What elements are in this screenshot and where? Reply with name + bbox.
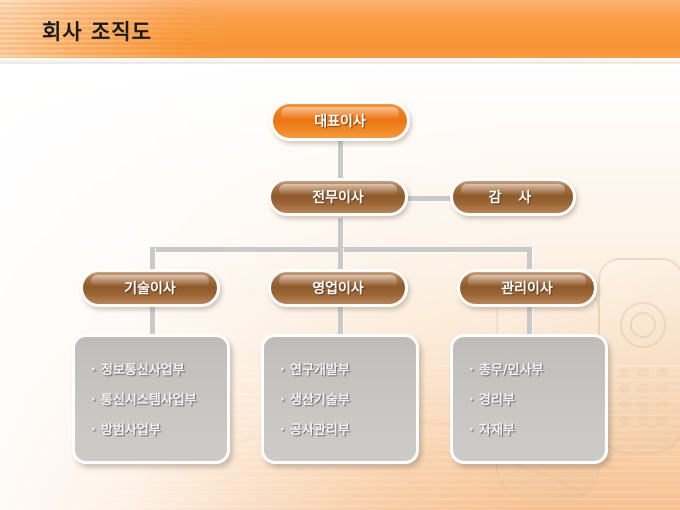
- connector-sales-to-departments: [338, 306, 343, 336]
- org-node-exec-director-label: 전무이사: [312, 187, 364, 207]
- connector-tech-to-departments: [150, 306, 155, 336]
- slide: 회사 조직도 대표이사 전무이사 감 사 기술이사 영업이사 관리이사 · 정보…: [0, 0, 680, 510]
- list-item: · 방범사업부: [91, 419, 227, 438]
- bullet-icon: ·: [280, 394, 290, 407]
- connector-exec-to-bus: [338, 218, 343, 250]
- connector-ceo-to-exec: [338, 140, 343, 180]
- bullet-icon: ·: [469, 394, 479, 407]
- bullet-icon: ·: [91, 394, 101, 407]
- connector-admin-to-departments: [527, 306, 532, 336]
- org-node-exec-director[interactable]: 전무이사: [268, 178, 408, 216]
- department-box-tech: · 정보통신사업부 · 통신시스템사업부 · 방범사업부: [72, 334, 230, 464]
- list-item: · 자재부: [469, 419, 605, 438]
- org-node-sales-director-label: 영업이사: [312, 278, 364, 298]
- list-item: · 생산기술부: [280, 389, 416, 408]
- department-box-admin: · 총무/인사부 · 경리부 · 자재부: [450, 334, 608, 464]
- connector-exec-to-auditor: [406, 196, 452, 201]
- department-label: 정보통신사업부: [101, 359, 185, 378]
- org-node-admin-director-label: 관리이사: [501, 278, 553, 298]
- bullet-icon: ·: [280, 424, 290, 437]
- org-node-admin-director[interactable]: 관리이사: [457, 269, 597, 307]
- bullet-icon: ·: [469, 364, 479, 377]
- bullet-icon: ·: [91, 364, 101, 377]
- bullet-icon: ·: [469, 424, 479, 437]
- list-item: · 연구개발부: [280, 359, 416, 378]
- title-bar: 회사 조직도: [0, 0, 680, 58]
- department-label: 통신시스템사업부: [101, 389, 197, 408]
- department-label: 자재부: [479, 419, 515, 438]
- list-item: · 총무/인사부: [469, 359, 605, 378]
- page-title: 회사 조직도: [42, 16, 152, 46]
- department-label: 생산기술부: [290, 389, 350, 408]
- org-node-auditor-label: 감 사: [489, 187, 538, 207]
- org-node-auditor[interactable]: 감 사: [450, 178, 576, 216]
- department-label: 연구개발부: [290, 359, 350, 378]
- bullet-icon: ·: [91, 424, 101, 437]
- list-item: · 통신시스템사업부: [91, 389, 227, 408]
- title-bar-separator-line: [0, 62, 680, 64]
- list-item: · 정보통신사업부: [91, 359, 227, 378]
- department-label: 총무/인사부: [479, 359, 544, 378]
- org-node-sales-director[interactable]: 영업이사: [268, 269, 408, 307]
- department-label: 공사관리부: [290, 419, 350, 438]
- org-node-tech-director[interactable]: 기술이사: [80, 269, 220, 307]
- list-item: · 공사관리부: [280, 419, 416, 438]
- list-item: · 경리부: [469, 389, 605, 408]
- department-box-sales: · 연구개발부 · 생산기술부 · 공사관리부: [261, 334, 419, 464]
- department-label: 경리부: [479, 389, 515, 408]
- bullet-icon: ·: [280, 364, 290, 377]
- org-node-ceo-label: 대표이사: [314, 111, 366, 131]
- org-node-ceo[interactable]: 대표이사: [270, 101, 410, 141]
- org-node-tech-director-label: 기술이사: [124, 278, 176, 298]
- department-label: 방범사업부: [101, 419, 161, 438]
